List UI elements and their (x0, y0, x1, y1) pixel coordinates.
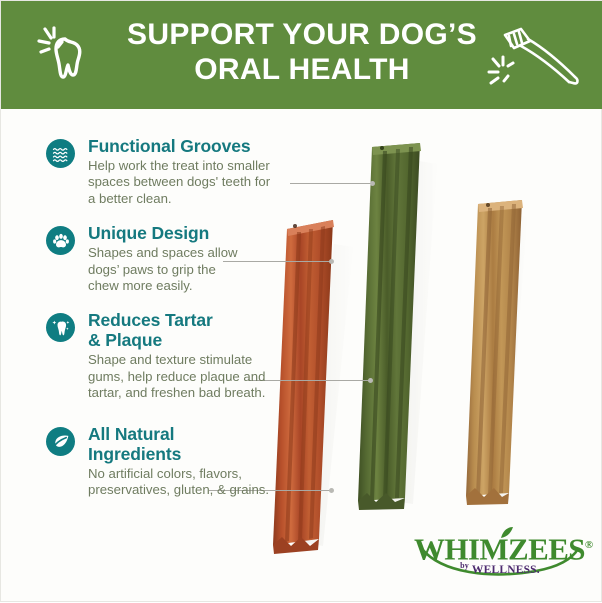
logo-wellness-text: WELLNESS. (472, 564, 540, 576)
leaf-natural-icon (46, 427, 75, 456)
feature-unique-design: Unique Design Shapes and spaces allow do… (46, 223, 336, 294)
logo-subline: by WELLNESS. (414, 561, 586, 576)
feature-title: Unique Design (88, 223, 336, 243)
feature-body: No artificial colors, flavors, preservat… (88, 466, 336, 499)
logo-by-text: by (460, 561, 469, 570)
feature-list: Functional Grooves Help work the treat i… (46, 136, 336, 512)
feature-all-natural-ingredients: All Natural Ingredients No artificial co… (46, 424, 336, 499)
feature-body: Shape and texture stimulate gums, help r… (88, 352, 336, 401)
sparkling-tooth-icon (46, 313, 75, 342)
feature-title: Functional Grooves (88, 136, 336, 156)
leader-dot-grooves (370, 181, 375, 186)
logo-wordmark: WHIMZEES® (414, 529, 586, 565)
toothbrush-sparkle-icon (487, 25, 587, 91)
leader-dot-tartar (368, 378, 373, 383)
feature-body: Help work the treat into smaller spaces … (88, 158, 336, 207)
feature-functional-grooves: Functional Grooves Help work the treat i… (46, 136, 336, 207)
infographic-root: SUPPORT YOUR DOG’S ORAL HEALTH (0, 0, 602, 602)
feature-reduces-tartar-plaque: Reduces Tartar & Plaque Shape and textur… (46, 310, 336, 401)
tan-chew-stick (466, 200, 523, 505)
feature-body: Shapes and spaces allow dogs’ paws to gr… (88, 245, 336, 294)
green-chew-stick (358, 143, 421, 510)
header-banner: SUPPORT YOUR DOG’S ORAL HEALTH (1, 1, 602, 109)
brand-logo: WHIMZEES® by WELLNESS. (414, 529, 586, 581)
feature-title: Reduces Tartar & Plaque (88, 310, 336, 350)
feature-title: All Natural Ingredients (88, 424, 336, 464)
grooves-waves-icon (46, 139, 75, 168)
logo-registered: ® (585, 539, 593, 551)
paw-print-icon (46, 226, 75, 255)
